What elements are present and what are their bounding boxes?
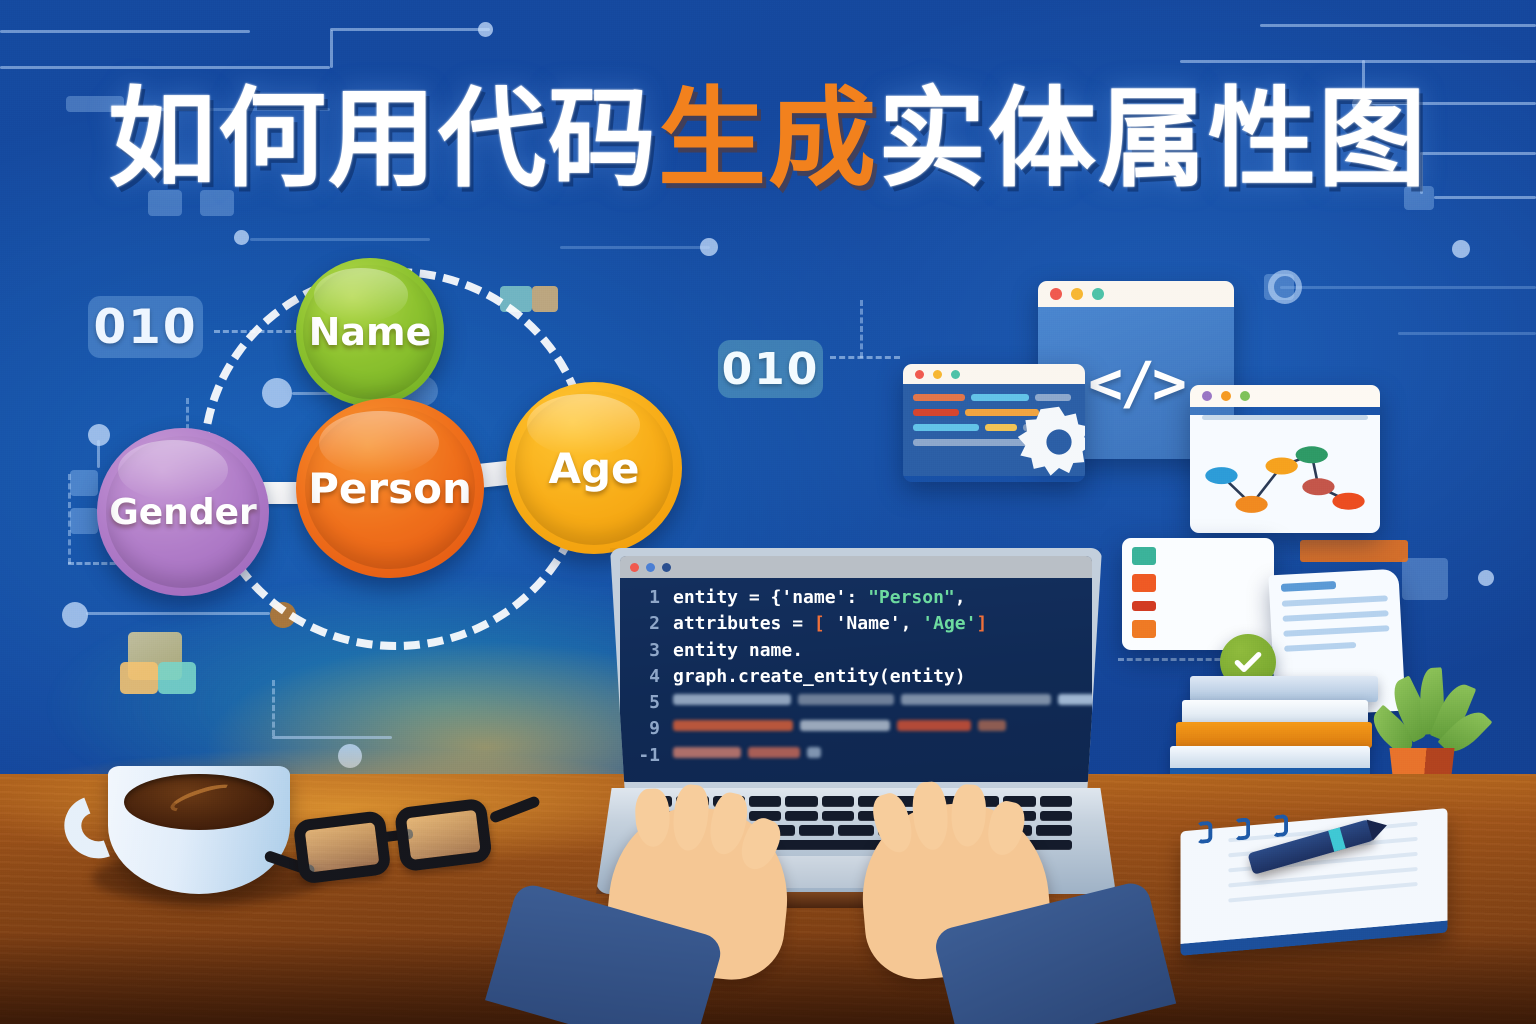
poster-title: 如何用代码生成实体属性图 — [0, 52, 1536, 208]
entity-bubble-person[interactable]: Person — [296, 398, 484, 578]
code-line-text: graph.create_entity(entity) — [673, 664, 966, 690]
code-line-text: entity name. — [673, 638, 803, 664]
code-editor[interactable]: 1entity = {'name': "Person",2attributes … — [620, 556, 1092, 782]
editor-code-area[interactable]: 1entity = {'name': "Person",2attributes … — [620, 578, 1092, 769]
bubble-label: Gender — [109, 492, 257, 533]
code-line-number: 4 — [628, 664, 660, 690]
editor-minimize-dot[interactable] — [646, 563, 655, 572]
code-line-text: attributes = [ 'Name', 'Age'] — [673, 611, 987, 637]
code-line: -1 — [620, 743, 1092, 769]
title-part-2: 实体属性图 — [878, 77, 1428, 202]
editor-titlebar — [620, 556, 1092, 578]
attribute-bubble-name[interactable]: Name — [296, 258, 444, 406]
poster-canvas: 如何用代码生成实体属性图 010 010 Name Person Gender — [0, 0, 1536, 1024]
code-line-number: 5 — [628, 690, 660, 716]
code-line-number: 9 — [628, 716, 660, 742]
code-line-number: 1 — [628, 585, 660, 611]
attribute-bubble-gender[interactable]: Gender — [97, 428, 269, 596]
code-line: 9 — [620, 716, 1092, 742]
attribute-bubble-age[interactable]: Age — [506, 382, 682, 554]
bubble-label: Name — [309, 310, 432, 354]
code-line-number: 2 — [628, 611, 660, 637]
laptop-screen: 1entity = {'name': "Person",2attributes … — [610, 548, 1102, 792]
code-line-blurred — [673, 743, 821, 758]
code-line-number: -1 — [628, 743, 660, 769]
title-part-1: 如何用代码 — [108, 77, 658, 202]
code-line: 5 — [620, 690, 1092, 716]
bubble-label: Age — [548, 444, 639, 493]
code-line: 2attributes = [ 'Name', 'Age'] — [620, 611, 1092, 637]
code-line-blurred — [673, 716, 1006, 731]
code-line: 4graph.create_entity(entity) — [620, 664, 1092, 690]
code-line-number: 3 — [628, 638, 660, 664]
title-highlight: 生成 — [658, 77, 878, 202]
code-line-text: entity = {'name': "Person", — [673, 585, 966, 611]
editor-close-dot[interactable] — [630, 563, 639, 572]
editor-maximize-dot[interactable] — [662, 563, 671, 572]
code-line-blurred — [673, 690, 1092, 705]
code-line: 3entity name. — [620, 638, 1092, 664]
code-line: 1entity = {'name': "Person", — [620, 585, 1092, 611]
bubble-label: Person — [308, 464, 472, 513]
